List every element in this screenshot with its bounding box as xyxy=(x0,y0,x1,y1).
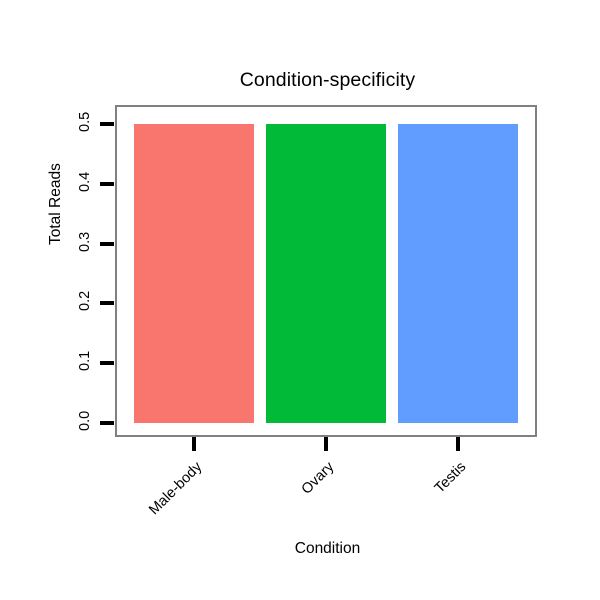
chart-title: Condition-specificity xyxy=(0,69,600,92)
x-axis-tick-mark xyxy=(324,437,328,451)
x-axis-title: Condition xyxy=(0,540,600,558)
y-axis-tick-mark xyxy=(100,122,114,126)
y-axis-tick-label: 0.1 xyxy=(77,353,93,371)
plot-area xyxy=(117,107,535,435)
bar-chart: Condition-specificity Total Reads 0.00.1… xyxy=(0,0,600,600)
x-axis-tick-mark xyxy=(192,437,196,451)
y-axis-tick-label: 0.0 xyxy=(77,413,93,431)
y-axis-tick-mark xyxy=(100,182,114,186)
bar xyxy=(398,124,518,423)
x-axis-tick-label: Ovary xyxy=(213,459,337,583)
bar xyxy=(266,124,386,423)
x-axis-tick-mark xyxy=(456,437,460,451)
y-axis-tick-label: 0.3 xyxy=(77,234,93,252)
y-axis-tick-mark xyxy=(100,301,114,305)
x-axis-tick-label: Testis xyxy=(345,459,469,583)
y-axis-tick-label: 0.5 xyxy=(77,114,93,132)
bar xyxy=(134,124,254,423)
y-axis-tick-mark xyxy=(100,421,114,425)
y-axis-tick-label: 0.2 xyxy=(77,293,93,311)
y-axis-tick-label: 0.4 xyxy=(77,174,93,192)
x-axis-tick-label: Male-body xyxy=(81,459,205,583)
y-axis-title: Total Reads xyxy=(47,225,65,245)
y-axis-tick-mark xyxy=(100,242,114,246)
y-axis-tick-mark xyxy=(100,361,114,365)
